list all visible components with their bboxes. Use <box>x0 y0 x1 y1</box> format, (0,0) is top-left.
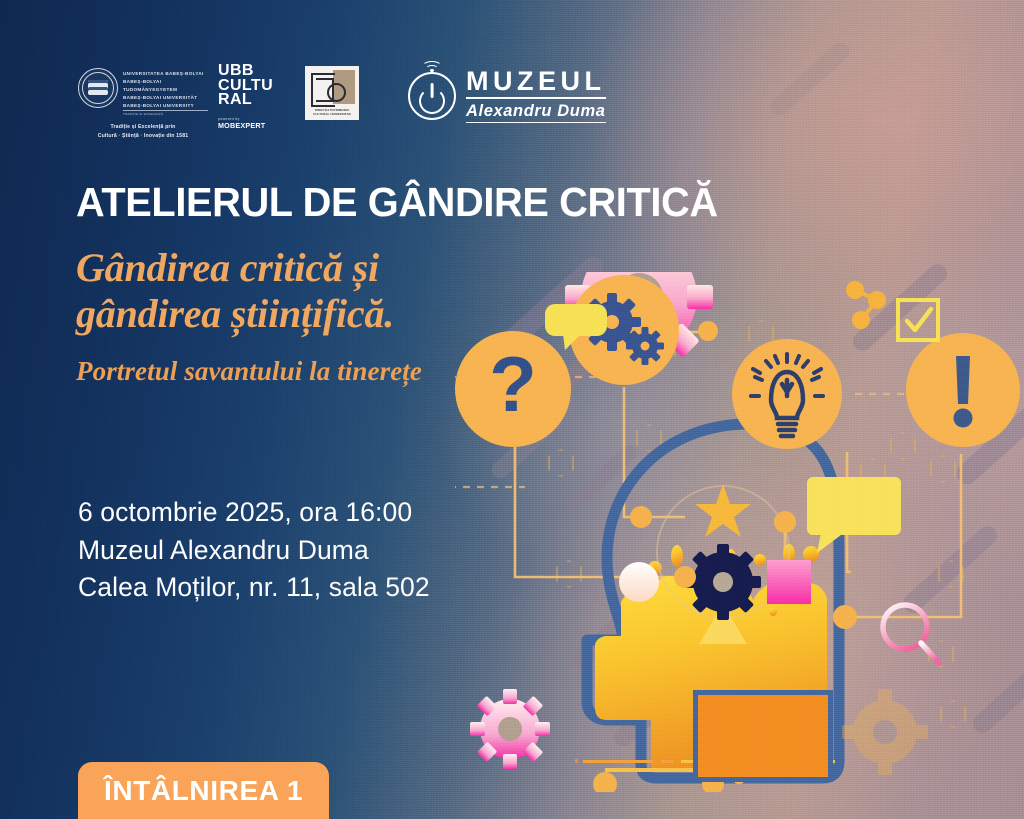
muzeul-logo[interactable]: MUZEUL Alexandru Duma <box>408 68 606 123</box>
event-address: Calea Moților, nr. 11, sala 502 <box>78 569 430 607</box>
ubb-name-ro: UNIVERSITATEA BABEȘ-BOLYAI <box>123 70 208 78</box>
page-title: ATELIERUL DE GÂNDIRE CRITICĂ <box>76 182 755 223</box>
ubb-seal-icon <box>78 68 118 108</box>
ubb-name-en: BABEȘ-BOLYAI UNIVERSITY <box>123 102 208 110</box>
ubb-cultural-line3: RAL <box>218 93 273 108</box>
ubb-name-hu: BABEȘ-BOLYAI TUDOMÁNYEGYETEM <box>123 78 208 94</box>
wifi-waves-icon <box>422 61 442 73</box>
muzeul-subname: Alexandru Duma <box>466 102 606 123</box>
meeting-badge: ÎNTÂLNIREA 1 <box>78 762 329 819</box>
ubb-rule-line: TRADIȚIE ȘI EXCELENȚĂ <box>123 110 208 116</box>
dpc-mark-circle <box>327 83 346 102</box>
subtitle-line-2: gândirea științifică. <box>76 291 596 337</box>
event-date: 6 octombrie 2025, ora 16:00 <box>78 494 430 532</box>
mobexpert-label: MOBEXPERT <box>218 121 273 130</box>
subtitle-secondary: Portretul savantului la tinerețe <box>76 355 616 387</box>
dpc-caption-2: CULTURAL UNIVERSITAR <box>305 113 359 117</box>
subtitle-line-1: Gândirea critică și <box>76 245 596 291</box>
orange-card-shape <box>693 690 833 782</box>
ubb-tagline-1: Tradiție și Excelență prin <box>78 123 208 132</box>
ubb-cultural-logo[interactable]: UBB CULTU RAL powered by MOBEXPERT <box>218 64 273 130</box>
event-venue: Muzeul Alexandru Duma <box>78 532 430 570</box>
ubb-name-de: BABEȘ-BOLYAI UNIVERSITÄT <box>123 94 208 102</box>
ubb-seal-logo[interactable]: UNIVERSITATEA BABEȘ-BOLYAI BABEȘ-BOLYAI … <box>78 68 208 141</box>
muzeul-name: MUZEUL <box>466 68 606 99</box>
event-details: 6 octombrie 2025, ora 16:00 Muzeul Alexa… <box>78 494 430 607</box>
subtitle: Gândirea critică și gândirea științifică… <box>76 245 596 338</box>
partner-logos: UNIVERSITATEA BABEȘ-BOLYAI BABEȘ-BOLYAI … <box>0 60 1024 140</box>
dpc-logo[interactable]: DIRECȚIA PATRIMONIU CULTURAL UNIVERSITAR <box>305 66 359 120</box>
poster: ? <box>0 0 1024 819</box>
ubb-tagline-2: Cultură · Știință · Inovație din 1581 <box>78 132 208 141</box>
power-button-icon <box>408 72 456 120</box>
